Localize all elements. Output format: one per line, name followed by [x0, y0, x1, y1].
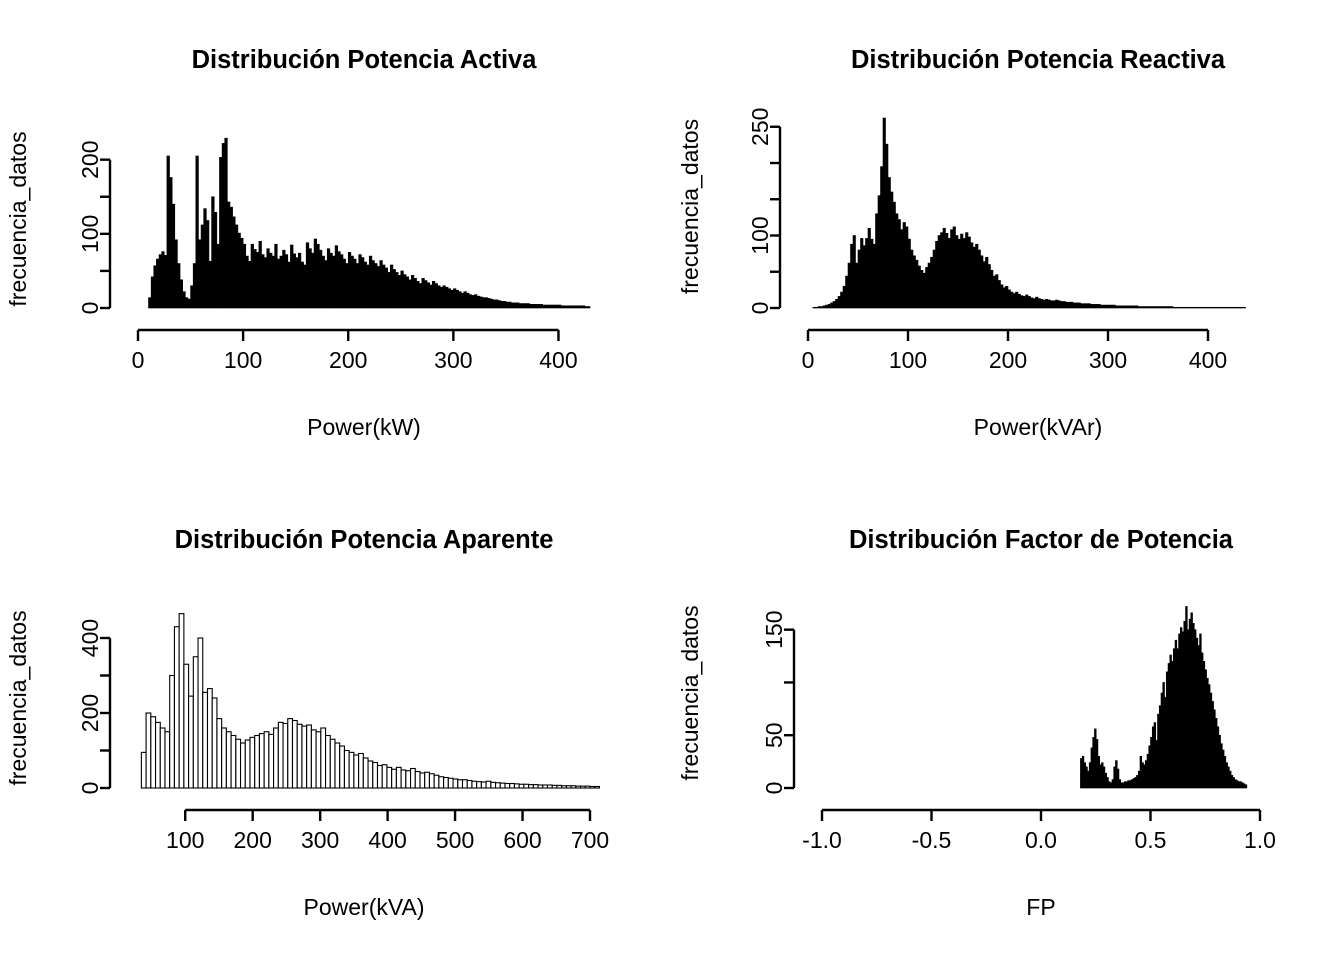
histogram-bars [813, 118, 1246, 308]
x-tick-label: 400 [368, 827, 406, 853]
y-tick-label: 100 [77, 215, 103, 253]
x-tick-label: 500 [436, 827, 474, 853]
histogram-bars [141, 614, 599, 788]
x-axis: 0100200300400 [802, 330, 1228, 373]
y-axis: 0200400 [77, 619, 110, 795]
y-axis-label: frecuencia_datos [677, 605, 703, 780]
chart-title: Distribución Potencia Activa [192, 46, 538, 74]
x-tick-label: 400 [1189, 347, 1227, 373]
x-axis-label: Power(kVA) [304, 894, 425, 920]
chart-panel-potencia-reactiva: Distribución Potencia Reactiva0100250010… [672, 0, 1344, 480]
x-tick-label: 1.0 [1244, 827, 1276, 853]
y-axis: 050150 [761, 610, 794, 794]
x-tick-label: 100 [166, 827, 204, 853]
x-tick-label: 200 [329, 347, 367, 373]
x-tick-label: 100 [889, 347, 927, 373]
y-tick-label: 0 [747, 302, 773, 315]
x-tick-label: 700 [571, 827, 609, 853]
y-tick-label: 400 [77, 619, 103, 657]
x-axis-label: Power(kW) [307, 414, 421, 440]
x-tick-label: 0.5 [1135, 827, 1167, 853]
y-tick-label: 200 [77, 694, 103, 732]
y-tick-label: 0 [761, 782, 787, 795]
chart-title: Distribución Potencia Aparente [175, 526, 554, 554]
x-tick-label: 200 [233, 827, 271, 853]
y-tick-label: 0 [77, 782, 103, 795]
x-tick-label: 400 [539, 347, 577, 373]
chart-panel-potencia-aparente: Distribución Potencia Aparente0200400100… [0, 480, 672, 960]
x-tick-label: 300 [434, 347, 472, 373]
y-tick-label: 0 [77, 302, 103, 315]
x-tick-label: 0.0 [1025, 827, 1057, 853]
chart-panel-potencia-activa: Distribución Potencia Activa010020001002… [0, 0, 672, 480]
x-axis: -1.0-0.50.00.51.0 [802, 810, 1276, 853]
x-tick-label: 0 [132, 347, 145, 373]
x-axis: 0100200300400 [132, 330, 578, 373]
y-axis-label: frecuencia_datos [677, 119, 703, 294]
y-tick-label: 150 [761, 610, 787, 648]
y-axis-label: frecuencia_datos [5, 131, 31, 306]
y-axis: 0100250 [747, 108, 780, 315]
histogram-bars [1080, 606, 1246, 788]
histogram-bars [149, 138, 590, 308]
x-tick-label: 100 [224, 347, 262, 373]
x-tick-label: 300 [301, 827, 339, 853]
y-tick-label: 250 [747, 108, 773, 146]
x-tick-label: -0.5 [912, 827, 952, 853]
x-tick-label: 600 [503, 827, 541, 853]
y-tick-label: 200 [77, 140, 103, 178]
x-tick-label: 0 [802, 347, 815, 373]
y-axis-label: frecuencia_datos [5, 610, 31, 785]
chart-title: Distribución Factor de Potencia [849, 526, 1234, 554]
y-tick-label: 100 [747, 216, 773, 254]
x-tick-label: -1.0 [802, 827, 842, 853]
x-axis-label: Power(kVAr) [974, 414, 1103, 440]
x-tick-label: 200 [989, 347, 1027, 373]
y-axis: 0100200 [77, 140, 110, 314]
chart-panel-factor-de-potencia: Distribución Factor de Potencia050150-1.… [672, 480, 1344, 960]
x-tick-label: 300 [1089, 347, 1127, 373]
histogram-panel-grid: Distribución Potencia Activa010020001002… [0, 0, 1344, 960]
x-axis-label: FP [1026, 894, 1055, 920]
x-axis: 100200300400500600700 [166, 810, 609, 853]
chart-title: Distribución Potencia Reactiva [851, 46, 1226, 74]
y-tick-label: 50 [761, 722, 787, 748]
